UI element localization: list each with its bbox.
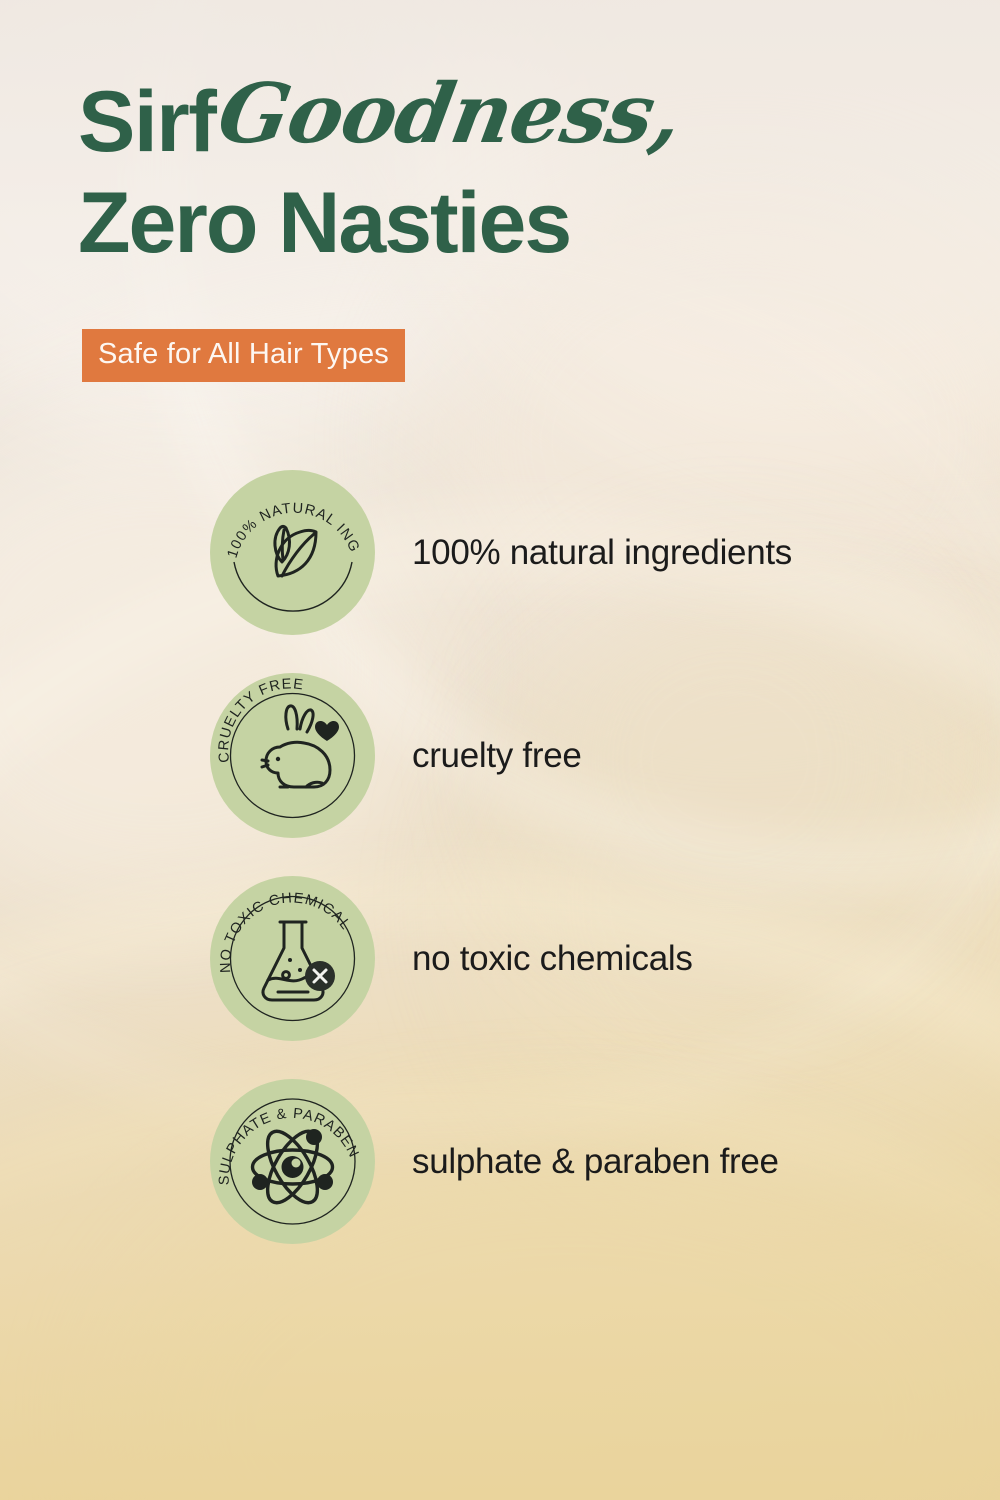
poster: Sirf Goodness, Zero Nasties Safe for All…: [0, 0, 1000, 1500]
headline-word-sirf: Sirf: [78, 82, 215, 164]
atom-electron: [317, 1174, 333, 1190]
feature-row: 100% NATURAL INGREDIENTS 100% natural in…: [0, 470, 1000, 635]
leaf-icon: [275, 527, 316, 577]
headline-line-1: Sirf Goodness,: [78, 82, 898, 174]
atom-electron: [306, 1129, 322, 1145]
badge-sulphate-paraben-free: SULPHATE & PARABEN FREE: [210, 1079, 375, 1244]
headline: Sirf Goodness, Zero Nasties: [78, 82, 898, 266]
heart-icon: [315, 721, 339, 741]
feature-label: 100% natural ingredients: [412, 533, 792, 573]
safe-for-all-hair-types-badge: Safe for All Hair Types: [82, 329, 405, 382]
badge-no-toxic-chemicals: NO TOXIC CHEMICALS: [210, 876, 375, 1041]
badge-graphic: CRUELTY FREE: [210, 673, 375, 838]
badge-graphic: SULPHATE & PARABEN FREE: [210, 1079, 375, 1244]
badge-cruelty-free: CRUELTY FREE: [210, 673, 375, 838]
badge-natural-ingredients: 100% NATURAL INGREDIENTS: [210, 470, 375, 635]
feature-row: SULPHATE & PARABEN FREE: [0, 1079, 1000, 1244]
feature-label: no toxic chemicals: [412, 939, 693, 979]
badge-graphic: NO TOXIC CHEMICALS: [210, 876, 375, 1041]
feature-label: cruelty free: [412, 736, 582, 776]
poster-content: Sirf Goodness, Zero Nasties Safe for All…: [0, 0, 1000, 1500]
rabbit-heart-icon: [262, 706, 330, 787]
feature-row: CRUELTY FREE: [0, 673, 1000, 838]
headline-script-goodness: Goodness,: [214, 78, 687, 152]
badge-curved-text: CRUELTY FREE: [216, 676, 305, 763]
badge-curved-text: 100% NATURAL INGREDIENTS: [210, 470, 363, 560]
badge-graphic: 100% NATURAL INGREDIENTS: [210, 470, 375, 635]
feature-list: 100% NATURAL INGREDIENTS 100% natural in…: [0, 470, 1000, 1282]
feature-label: sulphate & paraben free: [412, 1142, 779, 1182]
atom-nucleus: [282, 1156, 304, 1178]
headline-line-2: Zero Nasties: [78, 180, 898, 266]
badge-curved-text: NO TOXIC CHEMICALS: [210, 876, 354, 973]
atom-nucleus-highlight: [292, 1159, 301, 1168]
atom-electron: [252, 1174, 268, 1190]
feature-row: NO TOXIC CHEMICALS: [0, 876, 1000, 1041]
